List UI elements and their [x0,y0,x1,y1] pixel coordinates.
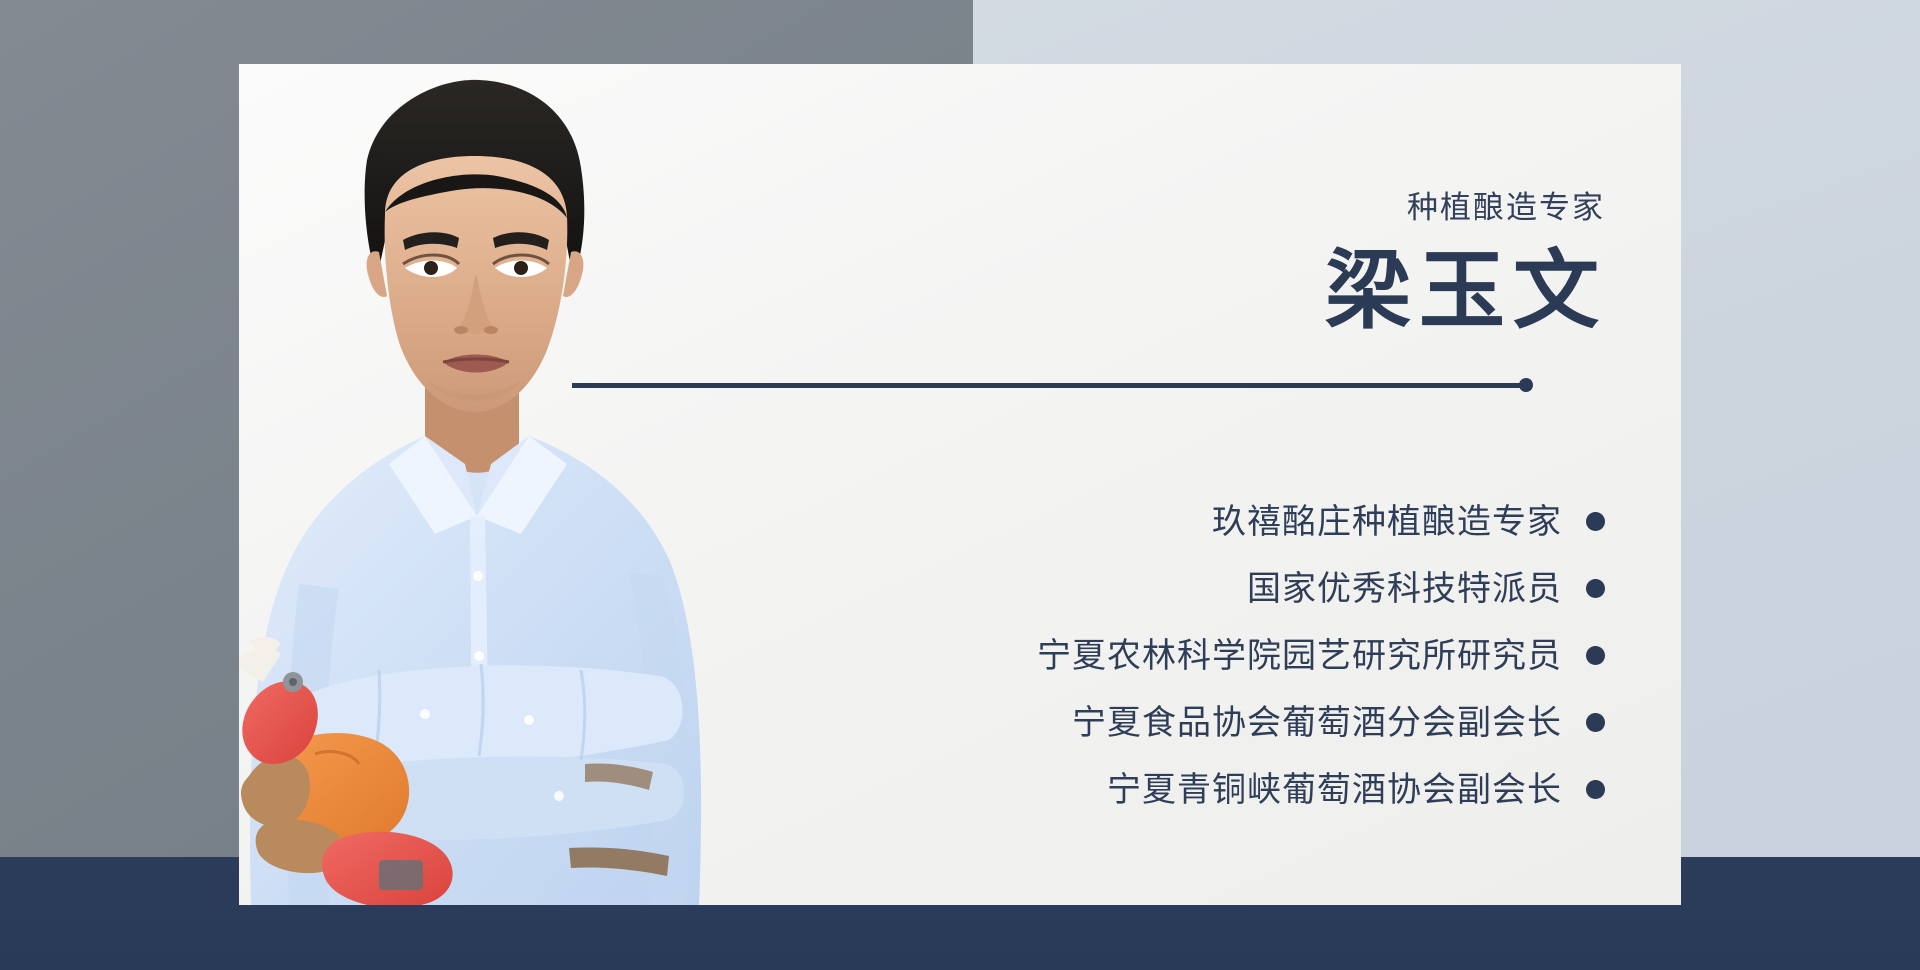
bullet-dot-icon [1586,579,1605,598]
divider-line [572,383,1523,388]
list-item: 玖禧酩庄种植酿造专家 [885,488,1605,555]
credential-label: 宁夏青铜峡葡萄酒协会副会长 [1107,773,1562,807]
credential-label: 玖禧酩庄种植酿造专家 [1212,505,1562,539]
credential-label: 宁夏农林科学院园艺研究所研究员 [1037,639,1562,673]
list-item: 宁夏青铜峡葡萄酒协会副会长 [885,756,1605,823]
expert-info: 种植酿造专家 梁玉文 玖禧酩庄种植酿造专家 国家优秀科技特派员 宁夏农林科学院园… [885,64,1605,905]
credential-label: 国家优秀科技特派员 [1247,572,1562,606]
profile-card: 种植酿造专家 梁玉文 玖禧酩庄种植酿造专家 国家优秀科技特派员 宁夏农林科学院园… [239,64,1681,905]
list-item: 国家优秀科技特派员 [885,555,1605,622]
poster-stage: 种植酿造专家 梁玉文 玖禧酩庄种植酿造专家 国家优秀科技特派员 宁夏农林科学院园… [0,0,1920,970]
bullet-dot-icon [1586,646,1605,665]
list-item: 宁夏食品协会葡萄酒分会副会长 [885,689,1605,756]
bullet-dot-icon [1586,780,1605,799]
list-item: 宁夏农林科学院园艺研究所研究员 [885,622,1605,689]
bullet-dot-icon [1586,713,1605,732]
credential-label: 宁夏食品协会葡萄酒分会副会长 [1072,706,1562,740]
divider-end-dot [1519,378,1533,392]
eyebrow-title: 种植酿造专家 [1407,192,1605,223]
credentials-list: 玖禧酩庄种植酿造专家 国家优秀科技特派员 宁夏农林科学院园艺研究所研究员 宁夏食… [885,488,1605,823]
portrait-photo [239,64,809,905]
bullet-dot-icon [1586,512,1605,531]
expert-name: 梁玉文 [1325,246,1607,336]
